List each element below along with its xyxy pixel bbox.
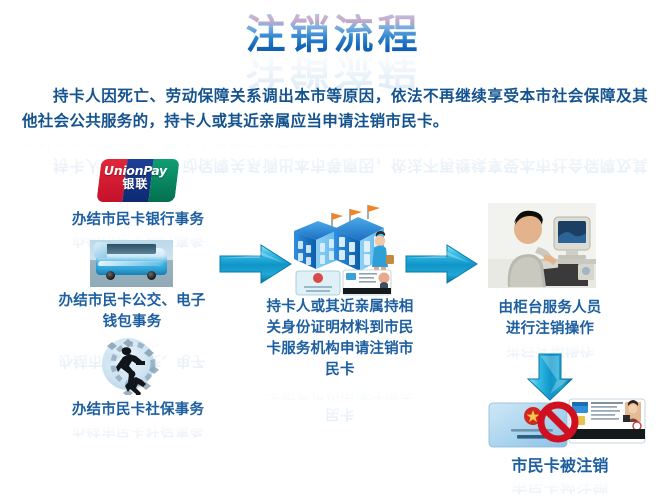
intro-paragraph: 持卡人因死亡、劳动保障关系调出本市等原因，依法不再继续享受本市社会保障及其他社会… xyxy=(22,84,648,134)
bus-livery-stripe xyxy=(97,261,164,266)
step-label-result: 市民卡被注销 xyxy=(470,455,650,476)
step-label-apply: 持卡人或其近亲属持相 关身份证明材料到市民 卡服务机构申请注销市 民卡 xyxy=(240,297,440,381)
step-label-apply-line3: 卡服务机构申请注销市 xyxy=(240,339,440,360)
step-label-apply-line4: 民卡 xyxy=(240,360,440,381)
arrow-right-2 xyxy=(404,243,479,291)
r-a4: 民卡 xyxy=(240,402,440,423)
prereq-label-social-security-reflection: 办结市民卡社保事务 xyxy=(24,422,252,439)
unionpay-logo-text: UnionPay 银联 xyxy=(96,156,174,199)
step-label-counter: 由柜台服务人员 进行注销操作 xyxy=(470,298,630,340)
service-hall-building-icon xyxy=(288,203,398,299)
unionpay-logo-text-cn: 银联 xyxy=(122,177,148,191)
staff-at-computer-photo-icon xyxy=(488,203,596,288)
social-security-logo-svg xyxy=(92,333,172,395)
prereq-label-bank: 办结市民卡银行事务 xyxy=(24,210,252,231)
arrow-right-1 xyxy=(218,243,293,291)
city-bus-photo-icon xyxy=(90,240,173,287)
prereq-label-social-security: 办结市民卡社保事务 xyxy=(24,400,252,421)
step-label-apply-reflection: 民卡 卡服务机构申请注销市 xyxy=(240,383,440,423)
prereq-label-transit-line1: 办结市民卡公交、电子 xyxy=(18,291,246,312)
unionpay-logo-text-en: UnionPay xyxy=(104,164,167,177)
step-label-result-reflection: 市民卡被注销 xyxy=(470,478,650,496)
slide-canvas: 注销流程 注销流程 持卡人因死亡、劳动保障关系调出本市等原因，依法不再继续享受本… xyxy=(0,0,667,502)
cancelled-cards-icon xyxy=(487,397,647,450)
bus-windshield-shape xyxy=(94,242,107,258)
bus-wheel-front xyxy=(106,271,115,280)
bus-wheel-rear xyxy=(147,271,156,280)
staff-at-computer-svg xyxy=(488,203,596,288)
bus-windows-shape xyxy=(99,243,156,254)
prereq-label-transit-line2: 钱包事务 xyxy=(18,312,246,333)
prereq-label-transit: 办结市民卡公交、电子 钱包事务 xyxy=(18,291,246,333)
arrow-right-1-svg xyxy=(218,243,293,287)
step-label-counter-line1: 由柜台服务人员 xyxy=(470,298,630,319)
arrow-right-2-svg xyxy=(404,243,479,287)
r-a3: 卡服务机构申请注销市 xyxy=(240,383,440,402)
step-label-apply-line1: 持卡人或其近亲属持相 xyxy=(240,297,440,318)
step-label-counter-line2: 进行注销操作 xyxy=(470,319,630,340)
arrow-down-3-svg xyxy=(524,352,576,402)
unionpay-logo-icon: UnionPay 银联 xyxy=(93,156,183,205)
page-title-text: 注销流程 xyxy=(246,14,422,56)
cancelled-cards-svg xyxy=(487,397,647,450)
step-label-apply-line2: 关身份证明材料到市民 xyxy=(240,318,440,339)
page-title: 注销流程 注销流程 xyxy=(0,14,667,90)
service-hall-building-svg xyxy=(288,203,398,299)
social-security-logo-icon xyxy=(92,333,172,395)
